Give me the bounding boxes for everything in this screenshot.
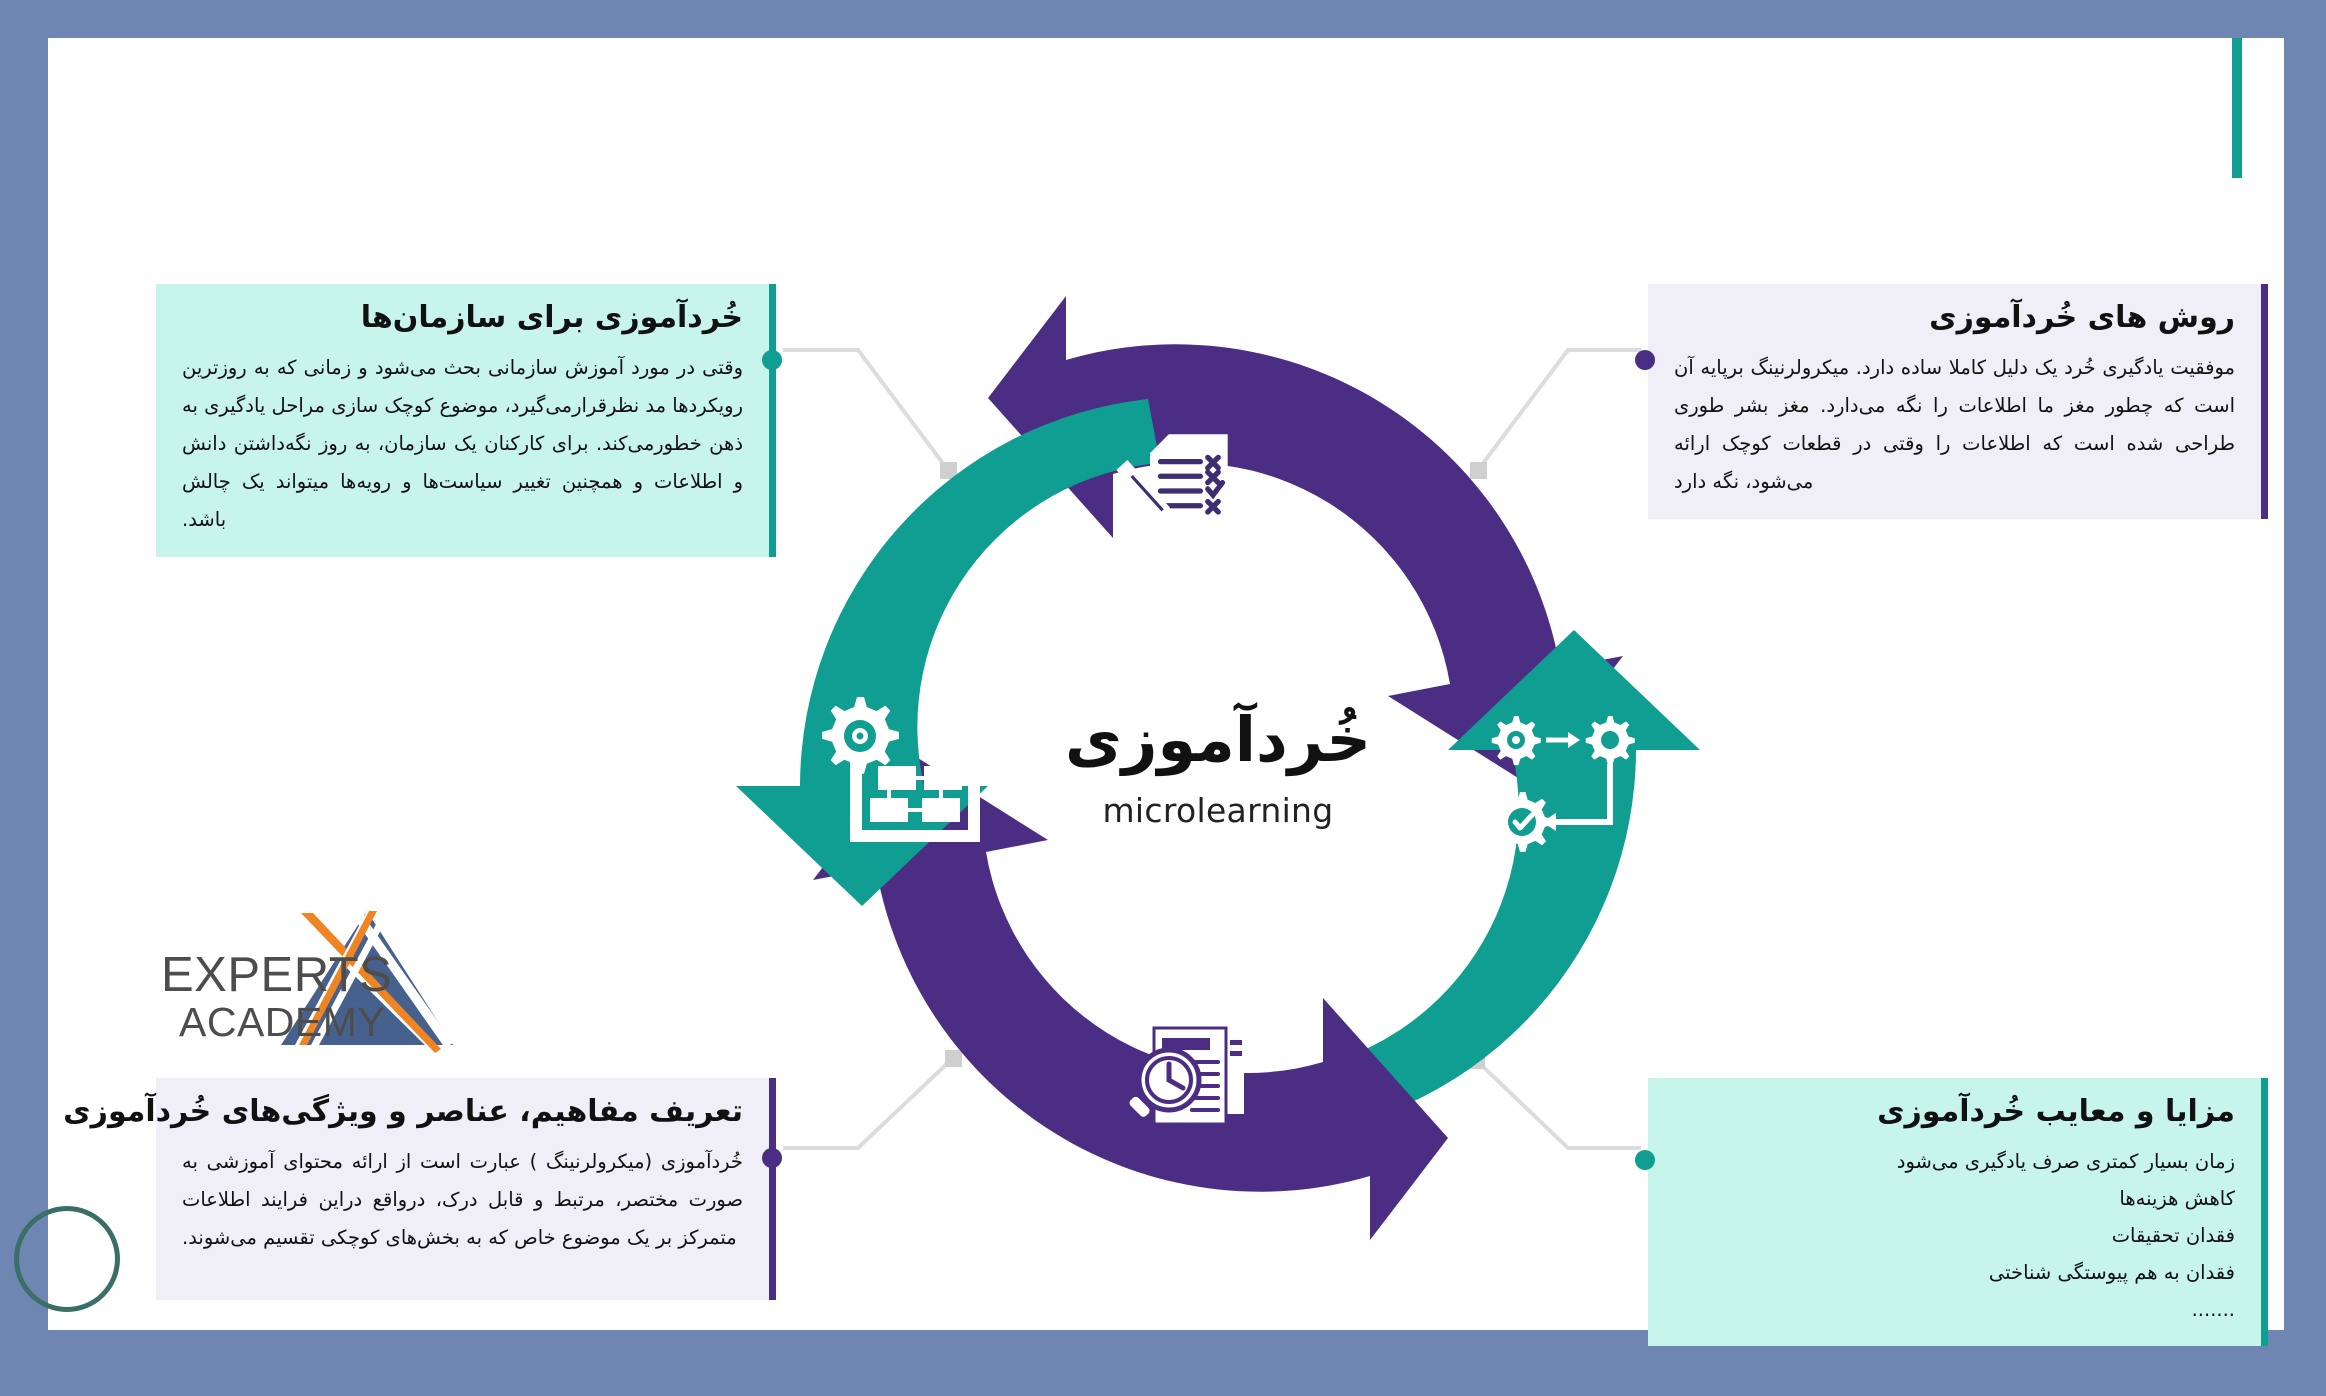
- panel-title: تعریف مفاهیم، عناصر و ویژگی‌های خُردآموز…: [182, 1092, 743, 1133]
- panel-advantages-disadvantages[interactable]: مزایا و معایب خُردآموزی زمان بسیار کمتری…: [1648, 1078, 2268, 1346]
- panel-body: موفقیت یادگیری خُرد یک دلیل کاملا ساده د…: [1674, 349, 2235, 501]
- connector-dot: [762, 350, 782, 370]
- accent-bar-top-right: [2232, 38, 2242, 178]
- panel-title: مزایا و معایب خُردآموزی: [1674, 1092, 2235, 1133]
- connector-dot: [1635, 1150, 1655, 1170]
- microlearning-cycle-diagram: [688, 238, 1748, 1298]
- panel-body-list: زمان بسیار کمتری صرف یادگیری می‌شود کاهش…: [1674, 1143, 2235, 1328]
- panel-microlearning-methods[interactable]: روش های خُردآموزی موفقیت یادگیری خُرد یک…: [1648, 284, 2268, 519]
- document-search-clock-icon: [1125, 1018, 1244, 1124]
- logo-text-line1: EXPERTS: [161, 948, 392, 1002]
- list-item: .......: [1674, 1291, 2235, 1328]
- list-item: فقدان به هم پیوستگی شناختی: [1674, 1254, 2235, 1291]
- list-item: کاهش هزینه‌ها: [1674, 1180, 2235, 1217]
- panel-definitions-elements-features[interactable]: تعریف مفاهیم، عناصر و ویژگی‌های خُردآموز…: [156, 1078, 776, 1300]
- connector-dot: [762, 1148, 782, 1168]
- panel-body: خُردآموزی (میکرولرنینگ ) عبارت است از ار…: [182, 1143, 743, 1257]
- panel-title: روش های خُردآموزی: [1674, 298, 2235, 339]
- panel-title: خُردآموزی برای سازمان‌ها: [182, 298, 743, 339]
- panel-microlearning-for-organizations[interactable]: خُردآموزی برای سازمان‌ها وقتی در مورد آم…: [156, 284, 776, 557]
- list-item: زمان بسیار کمتری صرف یادگیری می‌شود: [1674, 1143, 2235, 1180]
- panel-body: وقتی در مورد آموزش سازمانی بحث می‌شود و …: [182, 349, 743, 539]
- logo-text-line2: ACADEMY: [179, 999, 385, 1045]
- slide-canvas: خُردآموزی microlearning خُردآموزی برای س…: [48, 38, 2284, 1330]
- connector-dot: [1635, 350, 1655, 370]
- accent-circle-bottom-left: [14, 1206, 120, 1312]
- experts-academy-logo: EXPERTS ACADEMY: [153, 893, 473, 1058]
- list-item: فقدان تحقیقات: [1674, 1217, 2235, 1254]
